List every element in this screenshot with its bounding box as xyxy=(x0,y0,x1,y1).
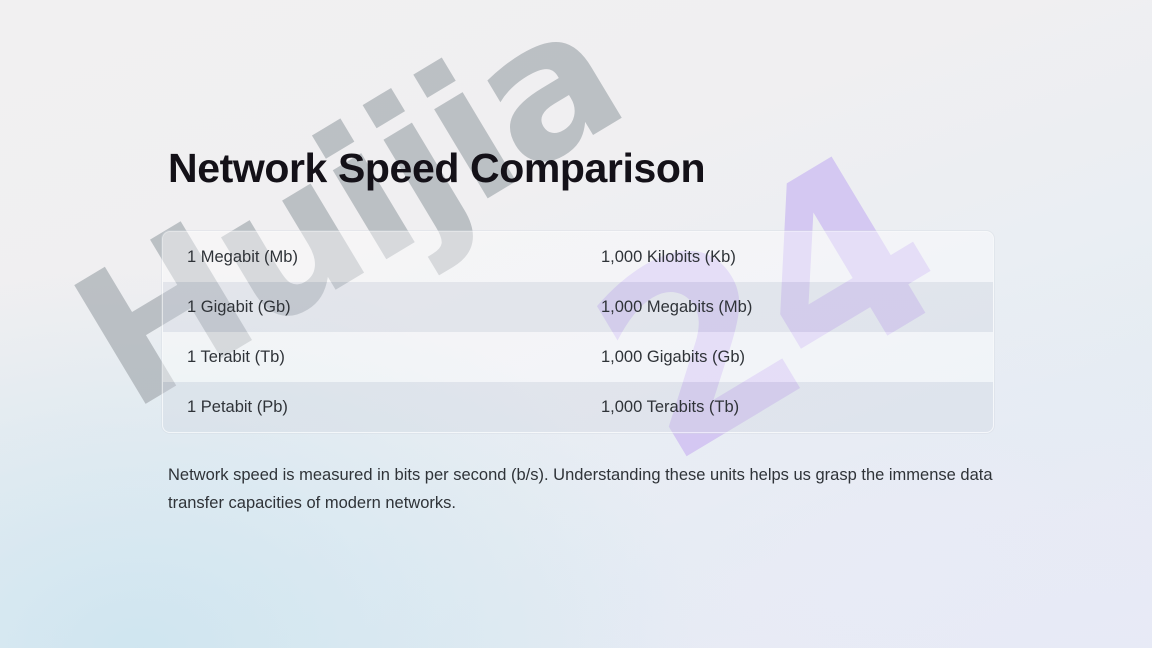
table-row: 1 Terabit (Tb) 1,000 Gigabits (Gb) xyxy=(163,332,993,382)
table-row: 1 Megabit (Mb) 1,000 Kilobits (Kb) xyxy=(163,232,993,282)
slide-canvas: 24 Huijia Network Speed Comparison 1 Meg… xyxy=(0,0,1152,648)
equivalent-cell: 1,000 Gigabits (Gb) xyxy=(576,348,993,367)
table-row: 1 Petabit (Pb) 1,000 Terabits (Tb) xyxy=(163,382,993,432)
unit-cell: 1 Petabit (Pb) xyxy=(163,398,576,417)
slide-caption: Network speed is measured in bits per se… xyxy=(168,461,993,517)
speed-comparison-table: 1 Megabit (Mb) 1,000 Kilobits (Kb) 1 Gig… xyxy=(162,231,994,433)
unit-cell: 1 Gigabit (Gb) xyxy=(163,298,576,317)
page-title: Network Speed Comparison xyxy=(168,145,705,192)
table-row: 1 Gigabit (Gb) 1,000 Megabits (Mb) xyxy=(163,282,993,332)
unit-cell: 1 Terabit (Tb) xyxy=(163,348,576,367)
unit-cell: 1 Megabit (Mb) xyxy=(163,248,576,267)
equivalent-cell: 1,000 Terabits (Tb) xyxy=(576,398,993,417)
equivalent-cell: 1,000 Kilobits (Kb) xyxy=(576,248,993,267)
equivalent-cell: 1,000 Megabits (Mb) xyxy=(576,298,993,317)
